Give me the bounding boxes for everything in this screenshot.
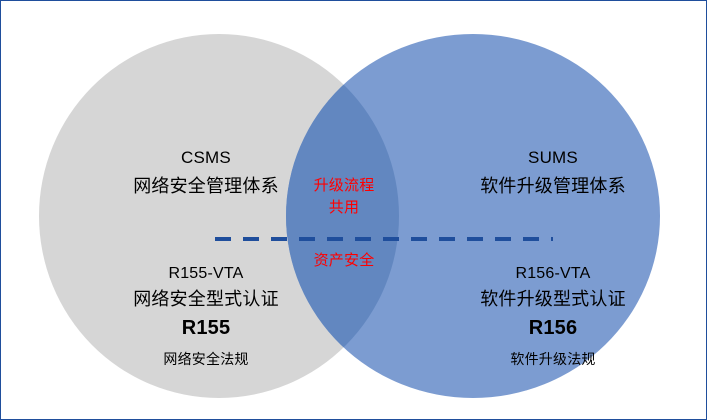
sums-acronym: SUMS bbox=[433, 147, 673, 170]
r156-code-label: R156 bbox=[433, 315, 673, 342]
r156-certification-label: 软件升级型式认证 bbox=[433, 287, 673, 311]
r155-code-label: R155 bbox=[91, 315, 321, 342]
shared-process-line1: 升级流程 bbox=[293, 176, 395, 196]
sums-text-block: SUMS 软件升级管理体系 bbox=[433, 147, 673, 198]
r155-regulation-label: 网络安全法规 bbox=[91, 350, 321, 369]
r156-text-block: R156-VTA 软件升级型式认证 R156 软件升级法规 bbox=[433, 263, 673, 369]
shared-process-label: 升级流程 共用 bbox=[293, 176, 395, 218]
r155-vta-label: R155-VTA bbox=[91, 263, 321, 284]
r156-regulation-label: 软件升级法规 bbox=[433, 350, 673, 369]
csms-text-block: CSMS 网络安全管理体系 bbox=[91, 147, 321, 198]
csms-acronym: CSMS bbox=[91, 147, 321, 170]
sums-name: 软件升级管理体系 bbox=[433, 174, 673, 198]
r156-vta-label: R156-VTA bbox=[433, 263, 673, 284]
csms-name: 网络安全管理体系 bbox=[91, 174, 321, 198]
r155-certification-label: 网络安全型式认证 bbox=[91, 287, 321, 311]
r155-text-block: R155-VTA 网络安全型式认证 R155 网络安全法规 bbox=[91, 263, 321, 369]
diagram-canvas: CSMS 网络安全管理体系 SUMS 软件升级管理体系 升级流程 共用 资产安全… bbox=[0, 0, 707, 420]
shared-process-line2: 共用 bbox=[293, 198, 395, 218]
